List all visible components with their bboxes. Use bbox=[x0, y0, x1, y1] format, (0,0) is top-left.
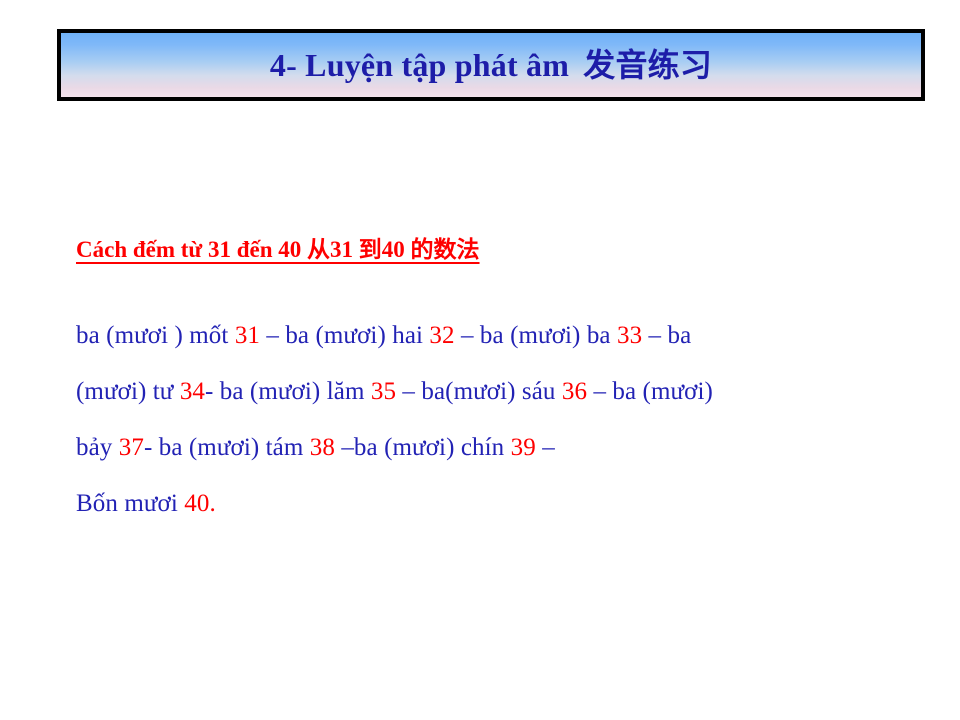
number-line: ba (mươi ) mốt 31 – ba (mươi) hai 32 – b… bbox=[76, 308, 938, 364]
number-value: 32 bbox=[429, 322, 454, 349]
slide-title: 4- Luyện tập phát âm 发音练习 bbox=[270, 49, 712, 81]
number-value: 36 bbox=[562, 378, 587, 405]
heading-row: Cách đếm từ 31 đến 40 从31 到40 的数法 bbox=[76, 236, 938, 265]
number-word: (mươi) tư bbox=[76, 378, 180, 405]
number-word: – ba bbox=[642, 322, 691, 349]
number-word: – ba (mươi) ba bbox=[455, 322, 617, 349]
number-word: ba (mươi ) mốt bbox=[76, 322, 235, 349]
number-word: Bốn mươi bbox=[76, 490, 184, 517]
number-line: Bốn mươi 40. bbox=[76, 476, 938, 532]
number-word: –ba (mươi) chín bbox=[335, 434, 511, 461]
number-line: bảy 37- ba (mươi) tám 38 –ba (mươi) chín… bbox=[76, 420, 938, 476]
number-value: 40. bbox=[184, 490, 216, 517]
number-value: 33 bbox=[617, 322, 642, 349]
number-value: 38 bbox=[310, 434, 335, 461]
slide-title-box: 4- Luyện tập phát âm 发音练习 bbox=[57, 29, 925, 101]
number-word: – ba (mươi) hai bbox=[260, 322, 429, 349]
slide-title-chinese: 发音练习 bbox=[577, 47, 712, 83]
number-value: 37 bbox=[119, 434, 144, 461]
number-value: 31 bbox=[235, 322, 260, 349]
number-list: ba (mươi ) mốt 31 – ba (mươi) hai 32 – b… bbox=[76, 308, 938, 532]
number-word: – bbox=[536, 434, 555, 461]
number-word: - ba (mươi) lăm bbox=[205, 378, 371, 405]
number-value: 35 bbox=[371, 378, 396, 405]
number-value: 34 bbox=[180, 378, 205, 405]
number-word: - ba (mươi) tám bbox=[144, 434, 310, 461]
number-line: (mươi) tư 34- ba (mươi) lăm 35 – ba(mươi… bbox=[76, 364, 938, 420]
slide-title-vietnamese: 4- Luyện tập phát âm bbox=[270, 47, 569, 83]
slide-content: Cách đếm từ 31 đến 40 从31 到40 的数法 ba (mư… bbox=[76, 236, 938, 532]
number-word: bảy bbox=[76, 434, 119, 461]
number-word: – ba (mươi) bbox=[587, 378, 713, 405]
number-word: – ba(mươi) sáu bbox=[396, 378, 562, 405]
section-heading: Cách đếm từ 31 đến 40 从31 到40 的数法 bbox=[76, 236, 480, 265]
number-value: 39 bbox=[511, 434, 536, 461]
